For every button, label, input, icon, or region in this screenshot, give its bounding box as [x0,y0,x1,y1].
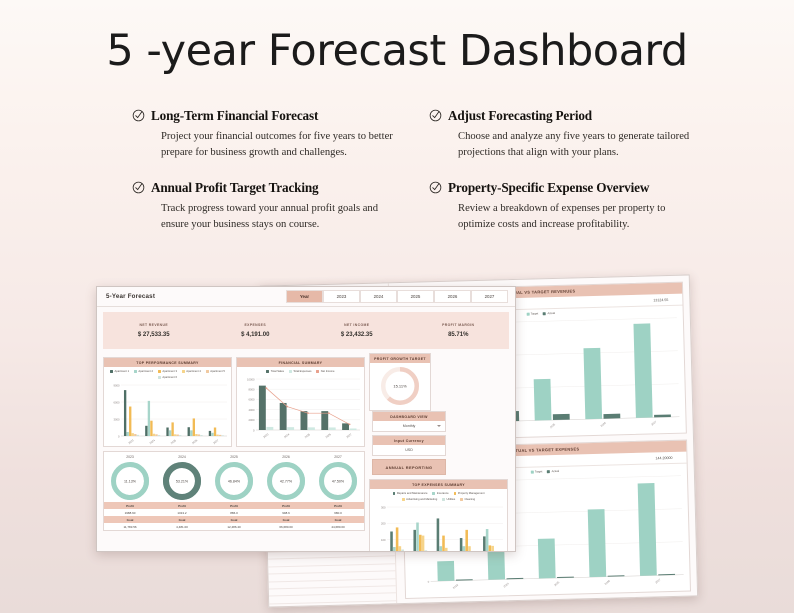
chart-title: TOP PERFORMANCE SUMMARY [104,358,231,367]
legend-item: Actual [543,312,555,315]
svg-text:4000: 4000 [249,408,255,412]
svg-text:2025: 2025 [304,432,312,439]
page-title: 5 -year Forecast Dashboard [0,0,794,76]
goal-row-value: 998.6 [260,509,312,516]
feature-heading: Adjust Forecasting Period [448,108,720,124]
legend-label: Target [531,312,539,315]
svg-text:2023: 2023 [452,583,460,590]
legend-label: Total Expenses [293,370,311,373]
svg-text:2026: 2026 [191,438,199,445]
goal-row-label: Profit [260,502,312,509]
legend-item: Apartment 6 [158,376,177,379]
feature-heading: Property-Specific Expense Overview [448,180,720,196]
legend-item: Apartment 2 [134,370,153,373]
legend-label: Repairs and Maintenance [397,492,428,495]
kpi-value: $ 4,191.00 [205,332,307,338]
control-header: Input Currency [373,436,445,445]
charts-row: TOP PERFORMANCE SUMMARY Apartment 1Apart… [103,357,365,447]
goal-donut-year: 2026 [260,455,312,459]
svg-text:6000: 6000 [114,400,120,404]
legend-swatch-icon [158,376,161,379]
feature-heading: Annual Profit Target Tracking [151,180,429,196]
goal-row-label: Profit [312,502,364,509]
feature-body: Track progress toward your annual profit… [151,201,401,234]
goal-row-label: Goal [312,516,364,523]
svg-text:200: 200 [381,522,386,526]
kpi-row: NET REVENUE$ 27,533.35EXPENSES$ 4,191.00… [103,312,509,349]
legend-swatch-icon [266,370,269,373]
legend-swatch-icon [206,370,209,373]
kpi-value: 85.71% [408,332,510,338]
svg-text:2024: 2024 [149,438,157,445]
svg-text:2025: 2025 [549,422,557,429]
dashboard-view-select[interactable]: DASHBOARD VIEW Monthly [372,411,446,432]
feature-item-annual-profit-target-tracking: Annual Profit Target Tracking Track prog… [132,180,429,234]
legend-swatch-icon [134,370,137,373]
legend-swatch-icon [454,492,457,495]
chart-top-expenses-summary[interactable]: TOP EXPENSES SUMMARY Repairs and Mainten… [369,479,508,552]
check-circle-icon [429,109,442,122]
kpi-card: PROFIT MARGIN85.71% [408,323,510,338]
svg-text:0: 0 [253,428,255,432]
dashboard-controls: DASHBOARD VIEW Monthly Input Currency US… [372,411,446,475]
goal-donut: 42.77% [260,460,312,502]
legend-label: Apartment 2 [138,370,153,373]
legend-swatch-icon [316,370,319,373]
dashboard-view-value[interactable]: Monthly [373,421,445,431]
goal-donut: 11.13% [104,460,156,502]
svg-text:2024: 2024 [283,432,291,439]
goal-row-label: Profit [156,502,208,509]
legend-label: Property Management [458,492,485,495]
check-circle-icon [132,109,145,122]
kpi-card: NET INCOME$ 23,432.35 [306,323,408,338]
chart-legend: Total SalesTotal ExpensesNet Income [237,367,364,374]
svg-text:100: 100 [381,538,386,542]
kpi-label: NET REVENUE [103,323,205,327]
svg-text:0: 0 [118,434,120,438]
legend-swatch-icon [182,370,185,373]
goal-donut-cell: 202747.50%Profit680.0Goal44,680.00 [312,452,364,530]
svg-text:0: 0 [428,580,430,584]
legend-swatch-icon [460,498,463,501]
legend-item: Insurance [432,492,448,495]
legend-swatch-icon [402,498,405,501]
goal-row-value: 680.0 [312,509,364,516]
kpi-label: EXPENSES [205,323,307,327]
svg-text:11.13%: 11.13% [124,479,137,483]
legend-item: Advertising and Marketing [402,498,437,501]
svg-text:3000: 3000 [114,417,120,421]
year-tab-2026[interactable]: 2026 [434,290,471,303]
year-tab-group[interactable]: Year20232024202520262027 [286,290,508,303]
year-tab-2025[interactable]: 2025 [397,290,434,303]
input-currency-value[interactable]: USD [373,445,445,455]
legend-label: Apartment 3 [162,370,177,373]
legend-swatch-icon [531,471,534,474]
legend-swatch-icon [547,470,550,473]
year-tab-2023[interactable]: 2023 [323,290,360,303]
goal-row-value: 12,486.40 [208,523,260,530]
feature-item-adjust-forecasting-period: Adjust Forecasting Period Choose and ana… [429,108,720,162]
goal-row-label: Goal [104,516,156,523]
feature-body: Review a breakdown of expenses per prope… [448,201,698,234]
goal-row-value: 11,783.56 [104,523,156,530]
goal-donut-cell: 202453.21%Profit1013.2Goal4,481.00 [156,452,208,530]
kpi-value: $ 27,533.35 [103,332,205,338]
svg-text:2026: 2026 [600,421,608,428]
kpi-card: EXPENSES$ 4,191.00 [205,323,307,338]
goal-donut-year: 2023 [104,455,156,459]
svg-text:10000: 10000 [247,377,255,381]
goal-row-label: Profit [104,502,156,509]
input-currency-field[interactable]: Input Currency USD [372,435,446,456]
svg-text:15.11%: 15.11% [393,383,407,388]
goal-row-value: 44,680.00 [312,523,364,530]
legend-item: Net Income [316,370,334,373]
svg-text:2024: 2024 [502,581,510,588]
legend-item: Cleaning [460,498,475,501]
legend-item: Apartment 5 [206,370,225,373]
chart-title: FINANCIAL SUMMARY [237,358,364,367]
goal-row-label: Goal [208,516,260,523]
legend-label: Apartment 1 [114,370,129,373]
legend-label: Net Income [321,370,335,373]
svg-text:8000: 8000 [249,388,255,392]
status-value: 144.20000 [655,455,672,459]
svg-text:2027: 2027 [212,438,220,445]
goal-row-value: 4,481.00 [156,523,208,530]
chart-legend: Repairs and MaintenanceInsuranceProperty… [370,489,507,502]
goal-row-label: Profit [208,502,260,509]
dashboard-preview: Expense Reference ACTUAL VS TARGET REVEN… [0,268,794,613]
chart-financial-summary[interactable]: FINANCIAL SUMMARY Total SalesTotal Expen… [236,357,365,447]
sheet-title: 5-Year Forecast [106,293,155,300]
svg-text:2027: 2027 [650,419,658,426]
dashboard-toolbar: 5-Year Forecast Year20232024202520262027 [97,287,515,307]
kpi-label: NET INCOME [306,323,408,327]
goal-row-label: Goal [156,516,208,523]
main-dashboard-sheet[interactable]: 5-Year Forecast Year20232024202520262027… [96,286,516,552]
feature-item-property-specific-expense-overview: Property-Specific Expense Overview Revie… [429,180,720,234]
svg-text:9000: 9000 [114,383,120,387]
goal-donut-year: 2027 [312,455,364,459]
goal-donut-cell: 202546.84%Profit886.0Goal12,486.40 [208,452,260,530]
legend-label: Actual [552,470,560,473]
svg-text:53.21%: 53.21% [176,479,189,483]
legend-label: Cleaning [465,498,476,501]
chart-legend: Apartment 1Apartment 2Apartment 3Apartme… [104,367,231,380]
legend-label: Advertising and Marketing [406,498,437,501]
legend-item: Property Management [454,492,485,495]
svg-text:2023: 2023 [127,438,135,445]
check-circle-icon [429,181,442,194]
legend-swatch-icon [158,370,161,373]
feature-list: Long-Term Financial Forecast Project you… [132,108,720,234]
legend-label: Apartment 5 [210,370,225,373]
feature-item-long-term-financial-forecast: Long-Term Financial Forecast Project you… [132,108,429,162]
svg-text:46.84%: 46.84% [228,479,241,483]
legend-item: Actual [547,470,559,473]
legend-swatch-icon [110,370,113,373]
kpi-value: $ 23,432.35 [306,332,408,338]
svg-text:2023: 2023 [262,432,270,439]
legend-swatch-icon [289,370,292,373]
legend-swatch-icon [442,498,445,501]
legend-item: Total Sales [266,370,283,373]
svg-text:47.50%: 47.50% [332,479,345,483]
svg-text:2026: 2026 [325,432,333,439]
goal-row-value: 886.0 [208,509,260,516]
svg-text:2025: 2025 [553,580,561,587]
feature-heading: Long-Term Financial Forecast [151,108,429,124]
annual-reporting-button[interactable]: ANNUAL REPORTING [372,459,446,475]
goal-row-value: 66,680.00 [260,523,312,530]
year-tab-2024[interactable]: 2024 [360,290,397,303]
goal-donut: 53.21% [156,460,208,502]
goal-donut-year: 2025 [208,455,260,459]
feature-body: Project your financial outcomes for five… [151,129,401,162]
svg-text:2026: 2026 [604,579,612,586]
profit-growth-target-card: PROFIT GROWTH TARGET 15.11% [369,353,431,411]
legend-label: Target [535,470,543,473]
legend-label: Utilities [447,498,456,501]
chart-plot: 010020030020232024202520262027 [370,502,507,552]
legend-item: Apartment 4 [182,370,201,373]
year-tab-2027[interactable]: 2027 [471,290,508,303]
svg-text:2025: 2025 [170,438,178,445]
legend-swatch-icon [543,312,546,315]
check-circle-icon [132,181,145,194]
card-header: PROFIT GROWTH TARGET [370,354,430,363]
legend-label: Apartment 4 [186,370,201,373]
kpi-card: NET REVENUE$ 27,533.35 [103,323,205,338]
svg-text:2000: 2000 [249,418,255,422]
legend-swatch-icon [393,492,396,495]
goal-donut-year: 2024 [156,455,208,459]
legend-item: Apartment 1 [110,370,129,373]
legend-item: Target [531,470,543,473]
legend-item: Repairs and Maintenance [393,492,428,495]
svg-text:2027: 2027 [654,577,662,584]
year-tab-year[interactable]: Year [286,290,323,303]
status-value: 13124.55 [653,297,668,301]
legend-label: Apartment 6 [162,376,177,379]
legend-label: Actual [547,312,555,315]
chart-plot: 030006000900020232024202520262027 [104,380,231,446]
chart-plot: 0200040006000800010000202320242025202620… [237,374,364,440]
svg-text:2027: 2027 [345,432,353,439]
legend-swatch-icon [526,313,529,316]
kpi-label: PROFIT MARGIN [408,323,510,327]
chart-top-performance-summary[interactable]: TOP PERFORMANCE SUMMARY Apartment 1Apart… [103,357,232,447]
legend-item: Utilities [442,498,455,501]
legend-item: Total Expenses [289,370,312,373]
annual-goal-donut-row: 202311.13%Profit1988.60Goal11,783.562024… [103,451,365,531]
control-header: DASHBOARD VIEW [373,412,445,421]
legend-swatch-icon [432,492,435,495]
svg-text:300: 300 [381,505,386,509]
goal-donut: 47.50% [312,460,364,502]
goal-row-value: 1988.60 [104,509,156,516]
goal-donut-cell: 202311.13%Profit1988.60Goal11,783.56 [104,452,156,530]
goal-donut-cell: 202642.77%Profit998.6Goal66,680.00 [260,452,312,530]
goal-donut: 46.84% [208,460,260,502]
chart-title: TOP EXPENSES SUMMARY [370,480,507,489]
legend-item: Target [526,312,538,315]
legend-label: Total Sales [271,370,284,373]
legend-label: Insurance [437,492,449,495]
goal-row-value: 1013.2 [156,509,208,516]
legend-item: Apartment 3 [158,370,177,373]
feature-body: Choose and analyze any five years to gen… [448,129,698,162]
svg-text:6000: 6000 [249,398,255,402]
profit-growth-donut: 15.11% [370,363,430,409]
svg-text:42.77%: 42.77% [280,479,293,483]
goal-row-label: Goal [260,516,312,523]
